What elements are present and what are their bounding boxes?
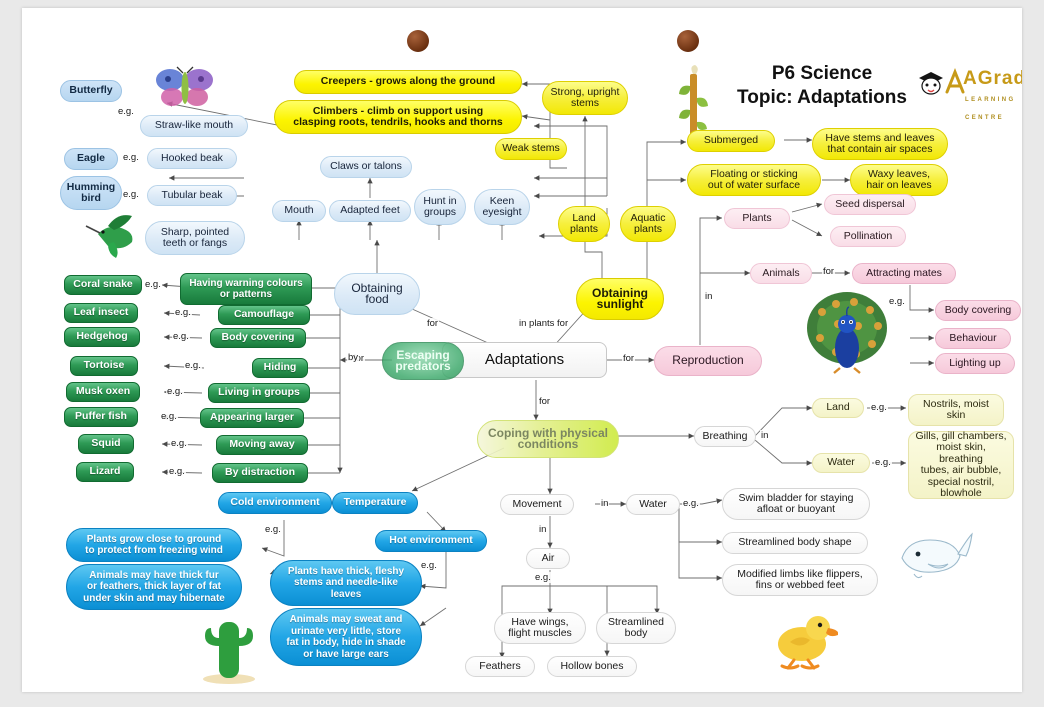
node-cold-animals-label: Animals may have thick fur or feathers, … — [83, 570, 225, 605]
node-hot-animals[interactable]: Animals may sweat and urinate very littl… — [270, 608, 422, 666]
node-creepers[interactable]: Creepers - grows along the ground — [294, 70, 522, 94]
node-mate-lighting-up[interactable]: Lighting up — [935, 353, 1015, 374]
node-reproduction[interactable]: Reproduction — [654, 346, 762, 376]
node-swim-bladder-label: Swim bladder for staying afloat or buoya… — [739, 493, 854, 516]
node-mouth[interactable]: Mouth — [272, 200, 326, 222]
butterfly-image — [152, 66, 218, 110]
node-claws-or-talons-label: Claws or talons — [330, 161, 402, 173]
node-sharp-teeth[interactable]: Sharp, pointed teeth or fangs — [145, 221, 245, 255]
edge-label-coral-snake-eg: e.g. — [144, 279, 162, 290]
node-land-plants-label: Land plants — [570, 213, 598, 236]
edge-label-movement-in-air: in — [538, 524, 547, 535]
node-example-lizard-label: Lizard — [90, 466, 121, 478]
node-movement-water[interactable]: Water — [626, 494, 680, 515]
edge-label-reproduction-in: in — [704, 291, 713, 302]
edge-label-food-for: for — [426, 318, 439, 329]
node-example-tortoise[interactable]: Tortoise — [70, 356, 138, 376]
node-example-coral-snake-label: Coral snake — [73, 279, 133, 291]
edge-label-breathing-in: in — [760, 430, 769, 441]
brand-tagline: LEARNING CENTRE — [965, 97, 1016, 121]
node-adapted-feet-label: Adapted feet — [340, 205, 400, 217]
node-weak-stems-label: Weak stems — [502, 143, 560, 155]
node-have-wings-label: Have wings, flight muscles — [508, 617, 572, 640]
node-mouth-label: Mouth — [284, 205, 313, 217]
node-escaping-predators-label: Escaping predators — [395, 350, 450, 373]
cactus-image — [194, 612, 264, 684]
edge-label-puffer-fish-eg: e.g. — [160, 411, 178, 422]
node-feathers-label: Feathers — [479, 661, 520, 673]
node-attracting-mates-label: Attracting mates — [866, 268, 942, 280]
node-method-moving-away-label: Moving away — [229, 439, 294, 451]
node-example-tortoise-label: Tortoise — [84, 360, 125, 372]
node-example-leaf-insect[interactable]: Leaf insect — [64, 303, 138, 323]
node-adapted-feet[interactable]: Adapted feet — [329, 200, 411, 222]
node-movement-water-label: Water — [639, 499, 667, 511]
peacock-image — [802, 286, 892, 376]
pin-left — [407, 30, 429, 52]
node-modified-limbs-label: Modified limbs like flippers, fins or we… — [737, 569, 862, 592]
node-method-body-covering-label: Body covering — [222, 332, 295, 344]
node-example-leaf-insect-label: Leaf insect — [74, 307, 129, 319]
node-method-hiding[interactable]: Hiding — [252, 358, 308, 378]
node-seed-dispersal-label: Seed dispersal — [835, 199, 904, 211]
node-submerged-result-label: Have stems and leaves that contain air s… — [825, 133, 934, 156]
node-hot-plants[interactable]: Plants have thick, fleshy stems and need… — [270, 560, 422, 606]
node-hot-environment-label: Hot environment — [389, 535, 472, 547]
node-floating-result-label: Waxy leaves, hair on leaves — [866, 169, 931, 192]
node-repro-plants-label: Plants — [742, 213, 771, 225]
node-breathing[interactable]: Breathing — [694, 426, 756, 447]
node-keen-eyesight-label: Keen eyesight — [482, 196, 521, 219]
node-mate-body-covering-label: Body covering — [945, 305, 1012, 317]
node-cold-environment-label: Cold environment — [230, 497, 319, 509]
whale-image — [894, 528, 974, 586]
node-mate-lighting-up-label: Lighting up — [949, 358, 1000, 370]
hub-label: Adaptations — [485, 354, 564, 366]
node-repro-animals[interactable]: Animals — [750, 263, 812, 284]
node-method-living-in-groups-label: Living in groups — [218, 387, 300, 399]
node-streamlined-body-shape-label: Streamlined body shape — [738, 537, 851, 549]
node-coping-conditions[interactable]: Coping with physical conditions — [477, 420, 619, 458]
node-movement-air-label: Air — [542, 553, 555, 565]
brand-name: AGrader — [963, 68, 1022, 89]
node-swim-bladder[interactable]: Swim bladder for staying afloat or buoya… — [722, 488, 870, 520]
edge-label-escaping-by: by — [347, 352, 359, 363]
node-attracting-mates[interactable]: Attracting mates — [852, 263, 956, 284]
page-title: P6 Science Topic: Adaptations — [732, 62, 912, 110]
node-straw-like-mouth-label: Straw-like mouth — [155, 120, 233, 132]
node-submerged-result[interactable]: Have stems and leaves that contain air s… — [812, 128, 948, 160]
node-temperature-label: Temperature — [344, 497, 407, 509]
node-streamlined-body-label: Streamlined body — [608, 617, 664, 640]
page-title-line2: Topic: Adaptations — [732, 86, 912, 110]
node-mate-behaviour[interactable]: Behaviour — [935, 328, 1011, 349]
node-example-butterfly[interactable]: Butterfly — [60, 80, 122, 102]
node-breathing-label: Breathing — [703, 431, 748, 443]
node-movement[interactable]: Movement — [500, 494, 574, 515]
node-example-musk-oxen-label: Musk oxen — [76, 386, 130, 398]
node-cold-plants-label: Plants grow close to ground to protect f… — [85, 534, 223, 557]
node-movement-air[interactable]: Air — [526, 548, 570, 569]
node-aquatic-plants-label: Aquatic plants — [630, 213, 665, 236]
node-example-musk-oxen[interactable]: Musk oxen — [66, 382, 140, 402]
edge-label-reproduction-for: for — [622, 353, 635, 364]
node-floating-result[interactable]: Waxy leaves, hair on leaves — [850, 164, 948, 196]
node-obtaining-food-label: Obtaining food — [351, 283, 402, 306]
node-obtaining-sunlight-label: Obtaining sunlight — [592, 288, 648, 311]
node-hooked-beak[interactable]: Hooked beak — [147, 148, 237, 169]
edge-label-hummingbird-eg: e.g. — [122, 189, 140, 200]
node-pollination[interactable]: Pollination — [830, 226, 906, 247]
duck-image — [768, 608, 838, 670]
mindmap-page: P6 Science Topic: Adaptations AGrader LE… — [22, 8, 1022, 692]
node-cold-animals[interactable]: Animals may have thick fur or feathers, … — [66, 564, 242, 610]
mindmap-canvas: P6 Science Topic: Adaptations AGrader LE… — [22, 8, 1022, 692]
node-seed-dispersal[interactable]: Seed dispersal — [824, 194, 916, 215]
node-submerged[interactable]: Submerged — [687, 130, 775, 152]
node-climbers-label: Climbers - climb on support using claspi… — [293, 106, 502, 129]
node-method-appearing-larger[interactable]: Appearing larger — [200, 408, 304, 428]
node-streamlined-body-shape[interactable]: Streamlined body shape — [722, 532, 868, 554]
node-breathing-land[interactable]: Land — [812, 398, 864, 418]
edge-label-land-eg: e.g. — [870, 402, 888, 413]
node-method-camouflage[interactable]: Camouflage — [218, 305, 310, 325]
node-claws-or-talons[interactable]: Claws or talons — [320, 156, 412, 178]
node-weak-stems[interactable]: Weak stems — [495, 138, 567, 160]
node-tubular-beak-label: Tubular beak — [162, 190, 223, 202]
edge-label-butterfly-eg: e.g. — [117, 106, 135, 117]
node-sharp-teeth-label: Sharp, pointed teeth or fangs — [161, 227, 229, 250]
node-breathing-land-label: Land — [826, 402, 849, 414]
agrader-logo: AGrader LEARNING CENTRE — [917, 66, 1017, 105]
node-method-body-covering[interactable]: Body covering — [210, 328, 306, 348]
node-straw-like-mouth[interactable]: Straw-like mouth — [140, 115, 248, 137]
node-example-puffer-fish[interactable]: Puffer fish — [64, 407, 138, 427]
node-method-hiding-label: Hiding — [264, 362, 297, 374]
edge-label-attracting-eg: e.g. — [888, 296, 906, 307]
node-breathing-land-result[interactable]: Nostrils, moist skin — [908, 394, 1004, 426]
node-floating-label: Floating or sticking out of water surfac… — [708, 169, 800, 192]
hub-adaptations[interactable]: Adaptations — [442, 342, 607, 378]
node-cold-environment[interactable]: Cold environment — [218, 492, 332, 514]
node-example-hedgehog[interactable]: Hedgehog — [64, 327, 140, 347]
node-example-hummingbird[interactable]: Humming bird — [60, 176, 122, 210]
edge-label-tortoise-eg: e.g. — [184, 360, 202, 371]
node-have-wings[interactable]: Have wings, flight muscles — [494, 612, 586, 644]
edge-label-animals-for: for — [822, 266, 835, 277]
node-method-camouflage-label: Camouflage — [234, 309, 294, 321]
node-floating[interactable]: Floating or sticking out of water surfac… — [687, 164, 821, 196]
node-example-hedgehog-label: Hedgehog — [76, 331, 127, 343]
node-method-moving-away[interactable]: Moving away — [216, 435, 308, 455]
node-breathing-water-result-label: Gills, gill chambers, moist skin, breath… — [915, 431, 1007, 500]
node-example-squid[interactable]: Squid — [78, 434, 134, 454]
node-hot-animals-label: Animals may sweat and urinate very littl… — [286, 614, 405, 660]
hummingbird-image — [84, 212, 146, 258]
edge-label-hot-eg: e.g. — [420, 560, 438, 571]
node-example-eagle-label: Eagle — [77, 153, 105, 165]
node-breathing-water-label: Water — [827, 457, 855, 469]
node-coping-conditions-label: Coping with physical conditions — [488, 428, 608, 451]
node-creepers-label: Creepers - grows along the ground — [321, 76, 495, 88]
node-example-butterfly-label: Butterfly — [69, 85, 112, 97]
page-title-line1: P6 Science — [732, 62, 912, 86]
node-obtaining-food[interactable]: Obtaining food — [334, 273, 420, 315]
node-cold-plants[interactable]: Plants grow close to ground to protect f… — [66, 528, 242, 562]
edge-label-leaf-insect-eg: e.g. — [174, 307, 192, 318]
node-hunt-in-groups-label: Hunt in groups — [423, 196, 456, 219]
node-mate-behaviour-label: Behaviour — [949, 333, 996, 345]
pin-right — [677, 30, 699, 52]
node-feathers[interactable]: Feathers — [465, 656, 535, 677]
node-escaping-predators[interactable]: Escaping predators — [382, 342, 464, 380]
node-land-plants[interactable]: Land plants — [558, 206, 610, 242]
node-example-coral-snake[interactable]: Coral snake — [64, 275, 142, 295]
node-hollow-bones-label: Hollow bones — [560, 661, 623, 673]
node-repro-plants[interactable]: Plants — [724, 208, 790, 229]
node-breathing-water[interactable]: Water — [812, 453, 870, 473]
node-method-warning-colours-label: Having warning colours or patterns — [189, 278, 302, 301]
node-hunt-in-groups[interactable]: Hunt in groups — [414, 189, 466, 225]
edge-label-coping-for: for — [538, 396, 551, 407]
node-example-eagle[interactable]: Eagle — [64, 148, 118, 170]
node-tubular-beak[interactable]: Tubular beak — [147, 185, 237, 206]
node-pollination-label: Pollination — [844, 231, 892, 243]
edge-label-water-breathing-eg: e.g. — [874, 457, 892, 468]
node-method-warning-colours[interactable]: Having warning colours or patterns — [180, 273, 312, 305]
node-temperature[interactable]: Temperature — [332, 492, 418, 514]
edge-label-movement-in-water: in — [600, 498, 609, 509]
node-submerged-label: Submerged — [704, 135, 758, 147]
node-aquatic-plants[interactable]: Aquatic plants — [620, 206, 676, 242]
edge-label-cold-eg: e.g. — [264, 524, 282, 535]
node-movement-label: Movement — [512, 499, 561, 511]
node-method-living-in-groups[interactable]: Living in groups — [208, 383, 310, 403]
edge-label-air-eg: e.g. — [534, 572, 552, 583]
node-example-puffer-fish-label: Puffer fish — [75, 411, 127, 423]
node-hot-environment[interactable]: Hot environment — [375, 530, 487, 552]
edge-label-movement-water-eg: e.g. — [682, 498, 700, 509]
node-obtaining-sunlight[interactable]: Obtaining sunlight — [576, 278, 664, 320]
edge-label-eagle-eg: e.g. — [122, 152, 140, 163]
node-strong-upright-stems-label: Strong, upright stems — [551, 87, 620, 110]
node-example-lizard[interactable]: Lizard — [76, 462, 134, 482]
edge-label-musk-oxen-eg: e.g. — [166, 386, 184, 397]
edge-label-hedgehog-eg: e.g. — [172, 331, 190, 342]
node-modified-limbs[interactable]: Modified limbs like flippers, fins or we… — [722, 564, 878, 596]
node-breathing-land-result-label: Nostrils, moist skin — [923, 399, 989, 422]
node-climbers[interactable]: Climbers - climb on support using claspi… — [274, 100, 522, 134]
node-hollow-bones[interactable]: Hollow bones — [547, 656, 637, 677]
node-reproduction-label: Reproduction — [672, 355, 743, 367]
edge-label-lizard-eg: e.g. — [168, 466, 186, 477]
node-example-hummingbird-label: Humming bird — [67, 182, 115, 205]
node-method-appearing-larger-label: Appearing larger — [210, 412, 294, 424]
edge-label-squid-eg: e.g. — [170, 438, 188, 449]
node-repro-animals-label: Animals — [762, 268, 799, 280]
edge-label-sunlight-in-plants-for: in plants for — [518, 318, 569, 329]
seedling-plant-image — [677, 64, 709, 140]
node-breathing-water-result[interactable]: Gills, gill chambers, moist skin, breath… — [908, 431, 1014, 499]
node-hot-plants-label: Plants have thick, fleshy stems and need… — [288, 566, 404, 601]
node-method-by-distraction-label: By distraction — [225, 467, 295, 479]
node-streamlined-body[interactable]: Streamlined body — [596, 612, 676, 644]
node-keen-eyesight[interactable]: Keen eyesight — [474, 189, 530, 225]
node-hooked-beak-label: Hooked beak — [161, 153, 223, 165]
node-example-squid-label: Squid — [91, 438, 120, 450]
node-mate-body-covering[interactable]: Body covering — [935, 300, 1021, 321]
node-strong-upright-stems[interactable]: Strong, upright stems — [542, 81, 628, 115]
node-method-by-distraction[interactable]: By distraction — [212, 463, 308, 483]
